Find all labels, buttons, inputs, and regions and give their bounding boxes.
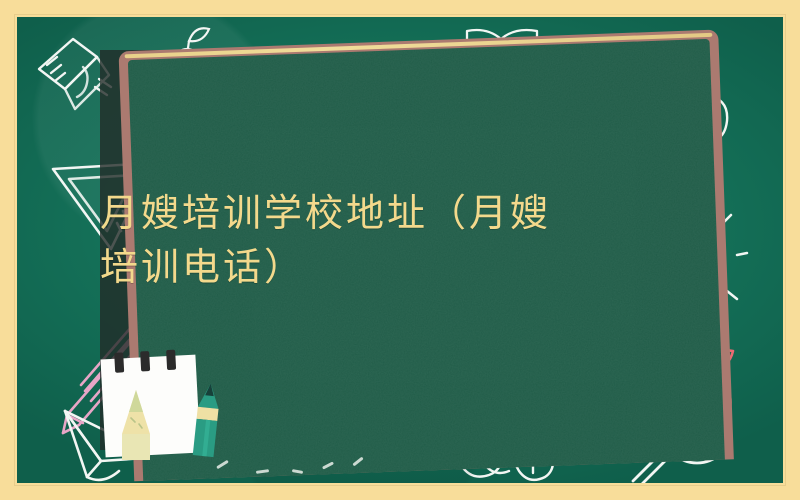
- headline-line-1: 月嫂培训学校地址（月嫂: [100, 191, 551, 235]
- page-title: 月嫂培训学校地址（月嫂培训电话）: [100, 186, 740, 294]
- notepad-ring: [166, 350, 176, 370]
- headline-line-2: 培训电话）: [100, 245, 305, 289]
- notepad-ring: [140, 351, 150, 371]
- notepad-ring: [114, 352, 124, 372]
- cover-image: 月嫂培训学校地址（月嫂培训电话）: [0, 0, 800, 500]
- yellow-pencil: [113, 388, 159, 460]
